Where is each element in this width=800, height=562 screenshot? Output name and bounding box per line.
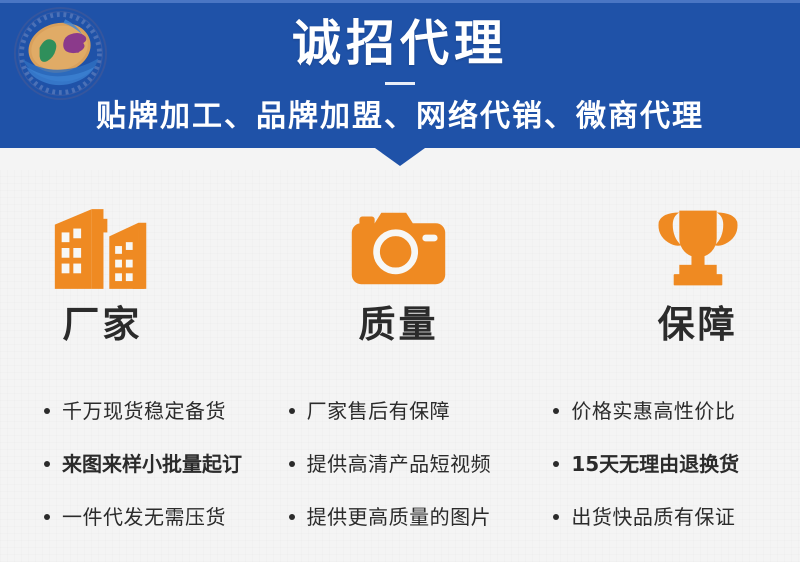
list-item: 提供高清产品短视频 xyxy=(289,451,534,477)
bullet-dot-icon xyxy=(553,408,559,414)
feature-column-quality: 质量 xyxy=(267,200,534,380)
factory-icon xyxy=(49,200,156,295)
camera-icon xyxy=(346,200,451,295)
bullet-dot-icon xyxy=(44,461,50,467)
list-item: 15天无理由退换货 xyxy=(553,451,800,477)
feature-column-guarantee: 保障 xyxy=(533,200,800,380)
bullet-dot-icon xyxy=(289,461,295,467)
list-item-label: 出货快品质有保证 xyxy=(571,504,735,530)
banner-subtitle: 贴牌加工、品牌加盟、网络代销、微商代理 xyxy=(0,96,800,138)
benefit-lists: 千万现货稳定备货 来图来样小批量起订 一件代发无需压货 厂家售后有保障 提供高清… xyxy=(0,392,800,530)
list-item: 价格实惠高性价比 xyxy=(553,398,800,424)
bullet-dot-icon xyxy=(553,514,559,520)
feature-label-quality: 质量 xyxy=(359,303,439,347)
list-item: 厂家售后有保障 xyxy=(289,398,534,424)
list-item: 来图来样小批量起订 xyxy=(44,451,267,477)
list-item-label: 一件代发无需压货 xyxy=(62,504,226,530)
trophy-icon xyxy=(653,200,743,295)
feature-label-factory: 厂家 xyxy=(62,303,142,347)
list-item: 提供更高质量的图片 xyxy=(289,504,534,530)
benefit-list-guarantee: 价格实惠高性价比 15天无理由退换货 出货快品质有保证 xyxy=(533,392,800,530)
bullet-dot-icon xyxy=(289,408,295,414)
list-item-label: 厂家售后有保障 xyxy=(307,398,451,424)
banner-top-strip xyxy=(0,0,800,3)
list-item-label: 提供高清产品短视频 xyxy=(307,451,492,477)
banner-arrow-notch xyxy=(375,148,425,166)
banner-title-divider xyxy=(385,82,415,85)
list-item: 出货快品质有保证 xyxy=(553,504,800,530)
bullet-dot-icon xyxy=(44,408,50,414)
list-item-label: 提供更高质量的图片 xyxy=(307,504,492,530)
bullet-dot-icon xyxy=(553,461,559,467)
bullet-dot-icon xyxy=(44,514,50,520)
list-item-label: 千万现货稳定备货 xyxy=(62,398,226,424)
list-item: 一件代发无需压货 xyxy=(44,504,267,530)
feature-column-factory: 厂家 xyxy=(0,200,267,380)
benefit-list-quality: 厂家售后有保障 提供高清产品短视频 提供更高质量的图片 xyxy=(267,392,534,530)
list-item-label: 价格实惠高性价比 xyxy=(571,398,735,424)
bullet-dot-icon xyxy=(289,514,295,520)
list-item-label: 来图来样小批量起订 xyxy=(62,451,242,477)
feature-label-guarantee: 保障 xyxy=(658,303,738,347)
feature-row: 厂家 质量 保障 xyxy=(0,200,800,380)
list-item: 千万现货稳定备货 xyxy=(44,398,267,424)
banner-title: 诚招代理 xyxy=(0,14,800,74)
list-item-label: 15天无理由退换货 xyxy=(571,451,739,477)
benefit-list-factory: 千万现货稳定备货 来图来样小批量起订 一件代发无需压货 xyxy=(0,392,267,530)
